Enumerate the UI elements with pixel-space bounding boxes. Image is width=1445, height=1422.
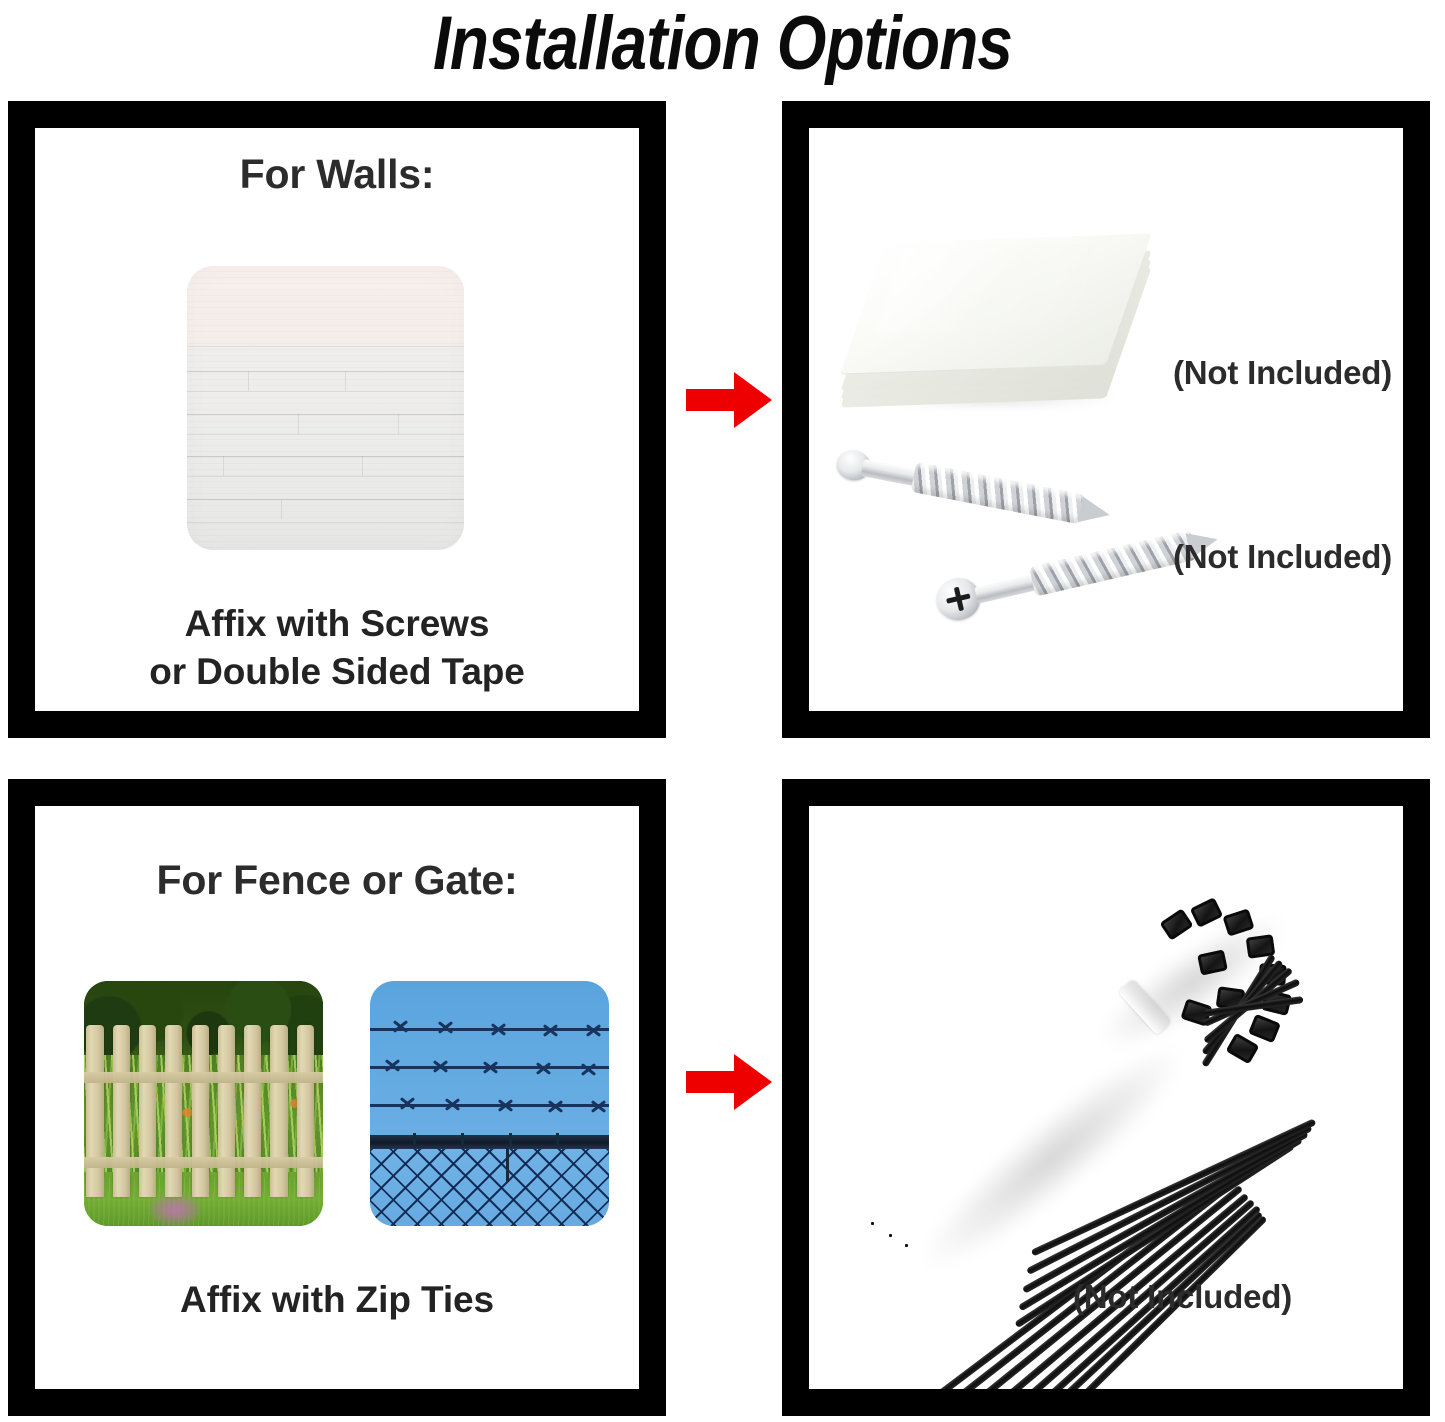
fence-caption: Affix with Zip Ties [35,1277,639,1323]
panel-for-fence-or-gate: For Fence or Gate: [8,779,666,1416]
fence-heading: For Fence or Gate: [35,856,639,904]
zip-ties-bundle-image [843,892,1313,1262]
zipties-not-included-label: (Not Included) [1073,1278,1292,1316]
double-sided-tape-stack-image [865,235,1127,403]
tape-not-included-label: (Not Included) [1173,354,1392,392]
panel-for-walls: For Walls: Affix with Screws or Double S… [8,101,666,738]
screws-not-included-label: (Not Included) [1173,538,1392,576]
walls-heading: For Walls: [35,150,639,198]
tape-sheen [875,242,1101,333]
white-brick-wall-image [187,266,464,550]
screw-image-upper [833,440,1136,540]
arrow-right-icon [686,372,772,428]
walls-caption-line1: Affix with Screws [35,601,639,647]
wall-grain [187,266,464,550]
panel-hardware: (Not Included) (Not Included) [782,101,1430,738]
panel-zip-ties: (Not Included) [782,779,1430,1416]
arrow-right-icon [686,1054,772,1110]
walls-caption-line2: or Double Sided Tape [35,649,639,695]
page-title: Installation Options [116,0,1330,88]
barbed-wire-chain-link-fence-image [370,981,609,1226]
picket-fence-image [84,981,323,1226]
